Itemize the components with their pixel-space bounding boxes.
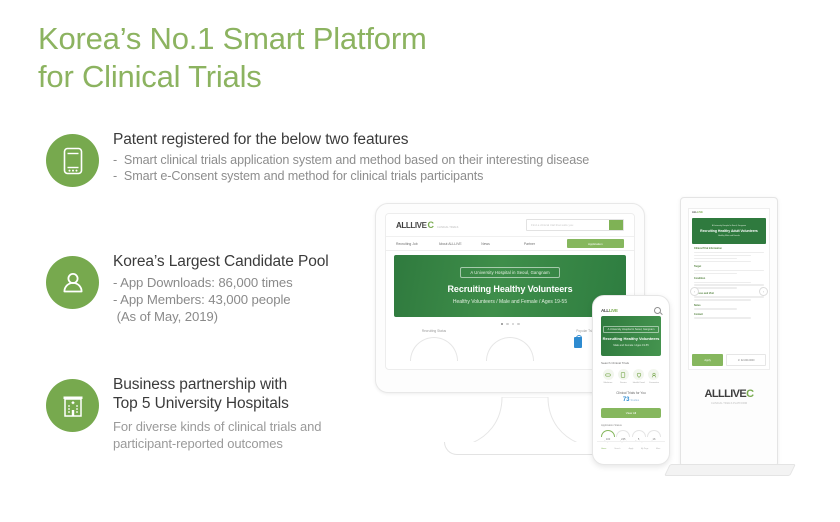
feature-row-candidate-pool: Korea’s Largest Candidate Pool - App Dow… — [46, 252, 329, 325]
phone-category-section: Search Clinical Trials Medicine — [601, 361, 661, 384]
kiosk-phone-number: 02-000-0000 — [741, 359, 755, 362]
feature-text: Business partnership with Top 5 Universi… — [113, 375, 321, 452]
phone-hero-subline: Male and Female / Ages 19-55 — [613, 344, 648, 347]
kiosk-hero-subline: Healthy Male and Female — [718, 235, 740, 237]
text-line — [694, 252, 764, 253]
person-icon — [46, 256, 99, 309]
phone-hero-card[interactable]: A University Hospital in Seoul, Gangnam … — [601, 316, 661, 356]
monitor-base — [444, 442, 608, 455]
kiosk-mockup: ALLLIVE A University Hospital in Seoul, … — [680, 197, 778, 467]
category-label: Cosmetics — [647, 382, 661, 384]
text-line — [694, 270, 764, 271]
lower-caption — [472, 329, 548, 333]
phone-logo[interactable]: ALLLIVE — [601, 308, 618, 313]
phone-nav-home[interactable]: Home — [597, 442, 611, 453]
site-nav: Recruiting Job About ALLLIVE News Partne… — [386, 236, 634, 251]
search-icon[interactable] — [654, 307, 661, 314]
feature-line: - App Downloads: 86,000 times — [113, 274, 329, 291]
feature-lines: For diverse kinds of clinical trials and… — [113, 418, 321, 452]
kiosk-base — [664, 464, 796, 476]
kiosk-hero-pill: A University Hospital in Seoul, Gangnam — [712, 225, 746, 227]
pill-icon — [603, 369, 614, 380]
gauge-icon — [647, 430, 661, 437]
count-value: 73 — [623, 397, 630, 403]
kiosk-section-title: Target — [694, 265, 764, 268]
search-button[interactable] — [609, 220, 623, 230]
text-line — [694, 261, 751, 262]
kiosk-section-title: Contact — [694, 313, 764, 316]
category-label: Medicine — [601, 382, 615, 384]
kiosk-screen: ALLLIVE A University Hospital in Seoul, … — [688, 208, 770, 370]
text-line — [694, 255, 751, 256]
feature-row-patent: Patent registered for the below two feat… — [46, 130, 589, 187]
gauge-arc — [410, 337, 458, 361]
phone-category-grid: Medicine Device Health Foo — [601, 369, 661, 384]
category-cosmetics[interactable]: Cosmetics — [647, 369, 661, 384]
feature-line: For diverse kinds of clinical trials and — [113, 418, 321, 435]
phone-nav-more[interactable]: More — [651, 442, 665, 453]
carousel-dot[interactable] — [506, 323, 509, 326]
text-line — [694, 284, 764, 285]
lower-col-left: Recruiting Status — [396, 329, 472, 361]
nav-item-recruiting[interactable]: Recruiting Job — [396, 242, 439, 246]
kiosk-phone-button[interactable]: ✆ 02-000-0000 — [726, 354, 766, 366]
hero-headline: Recruiting Healthy Volunteers — [448, 284, 573, 294]
text-line — [694, 296, 764, 297]
phone-recommend-label: Clinical Trials for You — [597, 391, 665, 395]
feature-line: - Smart e-Consent system and method for … — [113, 168, 589, 184]
text-line — [694, 258, 737, 259]
feature-line: - Smart clinical trials application syst… — [113, 152, 589, 168]
kiosk-section-title: Notes — [694, 304, 764, 307]
feature-line: participant-reported outcomes — [113, 435, 321, 452]
gauge-icon — [601, 430, 615, 437]
kiosk-apply-label: Apply — [704, 359, 711, 362]
feature-heading: Business partnership with Top 5 Universi… — [113, 375, 321, 413]
nav-item-news[interactable]: News — [481, 242, 524, 246]
feature-lines: - Smart clinical trials application syst… — [113, 152, 589, 184]
gauge-icon — [632, 430, 646, 437]
carousel-dot[interactable] — [517, 323, 520, 326]
text-line — [694, 308, 737, 309]
phone-icon: ✆ — [738, 359, 740, 362]
phone-bottom-nav: Home Search Apply My Page More — [597, 441, 665, 453]
kiosk-detail-body: Clinical Trial Information Target Condit… — [694, 247, 764, 319]
category-label: Device — [616, 382, 630, 384]
kiosk-section-title: Process and Visit — [694, 292, 764, 295]
phone-header: ALLLIVE — [597, 305, 665, 315]
feature-text: Korea’s Largest Candidate Pool - App Dow… — [113, 252, 329, 325]
smartphone-mockup: ALLLIVE A University Hospital in Seoul, … — [592, 295, 670, 465]
feature-row-partnership: Business partnership with Top 5 Universi… — [46, 375, 321, 452]
kiosk-brand-name: ALLLIVEC — [681, 388, 777, 400]
category-medicine[interactable]: Medicine — [601, 369, 615, 384]
lower-caption: Recruiting Status — [396, 329, 472, 333]
hero-pill: A University Hospital in Seoul, Gangnam — [460, 267, 559, 278]
phone-stats-label: Application Status — [601, 424, 661, 427]
health-food-icon — [633, 369, 644, 380]
monitor-neck — [472, 397, 578, 445]
chevron-right-icon[interactable]: › — [759, 287, 768, 296]
phone-nav-mypage[interactable]: My Page — [638, 442, 652, 453]
text-line — [694, 317, 751, 318]
phone-recommend-count: 73Studies — [597, 397, 665, 403]
logo-tagline: CLINICAL TRIALS — [437, 226, 458, 230]
text-line — [694, 299, 751, 300]
kiosk-header: ALLLIVE — [689, 209, 769, 216]
nav-item-about[interactable]: About ALLLIVE — [439, 242, 482, 246]
phone-nav-apply[interactable]: Apply — [624, 442, 638, 453]
text-line — [694, 282, 751, 283]
kiosk-hero-headline: Recruiting Healthy Adult Volunteers — [700, 229, 758, 233]
logo-live: LIVE — [410, 221, 426, 230]
page-title: Korea’s No.1 Smart Platform for Clinical… — [38, 20, 427, 96]
gauge-icon — [616, 430, 630, 437]
kiosk-section-title: Condition — [694, 277, 764, 280]
nav-cta-label: Application — [588, 242, 603, 246]
feature-line: (As of May, 2019) — [113, 308, 329, 325]
feature-lines: - App Downloads: 86,000 times - App Memb… — [113, 274, 329, 325]
carousel-dot[interactable] — [512, 323, 515, 326]
lower-col-mid — [472, 329, 548, 361]
logo-all: ALL — [396, 221, 410, 230]
feature-text: Patent registered for the below two feat… — [113, 130, 589, 184]
phone-recommend-block: Clinical Trials for You 73Studies — [597, 391, 665, 403]
category-label: Health Food — [632, 382, 646, 384]
gauge-arc — [486, 337, 534, 361]
site-logo[interactable]: ALL LIVE C CLINICAL TRIALS — [396, 220, 458, 230]
hospital-building-icon — [46, 379, 99, 432]
kiosk-logo: ALLLIVE — [692, 211, 703, 214]
kiosk-brand-tagline: CLINICAL TRIALS PLATFORM — [681, 402, 777, 405]
nav-cta-button[interactable]: Application — [567, 239, 624, 248]
phone-nav-search[interactable]: Search — [611, 442, 625, 453]
cosmetic-icon — [648, 369, 659, 380]
slide-root: Korea’s No.1 Smart Platform for Clinical… — [0, 0, 840, 522]
feature-line: - App Members: 43,000 people — [113, 291, 329, 308]
nav-item-partner[interactable]: Partner — [524, 242, 567, 246]
kiosk-section-title: Clinical Trial Information — [694, 247, 764, 250]
site-header: ALL LIVE C CLINICAL TRIALS Find a clinic… — [386, 214, 634, 236]
phone-hero-headline: Recruiting Healthy Volunteers — [603, 336, 660, 341]
text-line — [694, 287, 737, 288]
feature-heading: Patent registered for the below two feat… — [113, 130, 589, 149]
kiosk-footer-actions: Apply ✆ 02-000-0000 — [692, 354, 766, 366]
search-placeholder: Find a clinical trial that suits you — [527, 223, 609, 227]
search-input[interactable]: Find a clinical trial that suits you — [526, 219, 624, 231]
logo-c-mark: C — [428, 220, 435, 230]
phone-hero-pill: A University Hospital in Seoul, Gangnam — [603, 326, 660, 333]
phone-screen: ALLLIVE A University Hospital in Seoul, … — [597, 305, 665, 453]
phone-section-label: Search Clinical Trials — [601, 361, 661, 365]
kiosk-apply-button[interactable]: Apply — [692, 354, 723, 366]
mobile-phone-icon — [46, 134, 99, 187]
carousel-dot[interactable] — [501, 323, 504, 326]
shopping-bag-icon — [574, 337, 582, 348]
text-line — [694, 273, 737, 274]
kiosk-brand-block: ALLLIVEC CLINICAL TRIALS PLATFORM — [681, 388, 777, 405]
kiosk-hero-banner: A University Hospital in Seoul, Gangnam … — [692, 218, 766, 244]
device-mockup-scene: ALLLIVE A University Hospital in Seoul, … — [360, 195, 830, 495]
hero-subline: Healthy Volunteers / Male and Female / A… — [453, 299, 567, 305]
category-device[interactable]: Device — [616, 369, 630, 384]
phone-cta-label: View All — [626, 411, 636, 415]
chevron-left-icon[interactable]: ‹ — [690, 287, 699, 296]
category-health-food[interactable]: Health Food — [632, 369, 646, 384]
phone-cta-button[interactable]: View All — [601, 408, 661, 418]
count-unit: Studies — [631, 399, 640, 402]
feature-heading: Korea’s Largest Candidate Pool — [113, 252, 329, 271]
device-icon — [618, 369, 629, 380]
